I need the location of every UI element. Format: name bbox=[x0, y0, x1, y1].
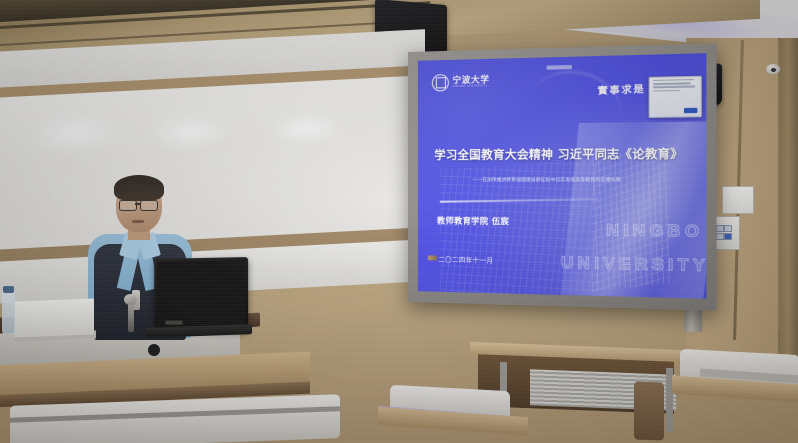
watermark-university: UNIVERSITY bbox=[561, 254, 706, 276]
presentation-toolbar-blip[interactable] bbox=[546, 65, 571, 70]
classroom-photo: 宁波大学 NINGBO UNIVERSITY 實事求是 学习全国教育大会精神 习… bbox=[0, 0, 798, 443]
whiteboard-glare-3 bbox=[268, 109, 344, 147]
laptop-brand-logo bbox=[165, 321, 182, 325]
dialog-confirm-button[interactable] bbox=[684, 108, 697, 114]
dialog-text-line-4 bbox=[653, 90, 679, 92]
glasses-lens-right bbox=[140, 200, 158, 211]
slide-subtitle: ——在加快推进教育强国建设新征程中切实发挥高等教育的支撑作用 bbox=[473, 177, 701, 183]
glasses-bridge bbox=[135, 203, 140, 205]
university-name-cn: 宁波大学 bbox=[453, 75, 490, 84]
whiteboard-surface bbox=[0, 75, 425, 250]
projection-screen: 宁波大学 NINGBO UNIVERSITY 實事求是 学习全国教育大会精神 习… bbox=[408, 43, 717, 310]
podium-laptop[interactable] bbox=[154, 257, 248, 331]
panel-button-active[interactable] bbox=[724, 233, 732, 240]
panel-button-2[interactable] bbox=[716, 225, 724, 232]
university-logo: 宁波大学 NINGBO UNIVERSITY bbox=[431, 73, 489, 91]
whiteboard-glare-1 bbox=[30, 109, 120, 156]
popup-dialog[interactable] bbox=[649, 75, 702, 117]
camera-lens bbox=[771, 68, 776, 72]
water-bottle[interactable] bbox=[2, 290, 15, 334]
wall-seam-2 bbox=[778, 40, 780, 330]
laptop-screen-bezel bbox=[157, 260, 245, 328]
presenter-hair bbox=[114, 175, 164, 201]
panel-button-5[interactable] bbox=[716, 233, 724, 240]
dialog-text-line-3 bbox=[653, 86, 694, 88]
slide-date: 二〇二四年十一月 bbox=[438, 255, 493, 265]
slide-date-marker bbox=[427, 256, 436, 261]
calligraphy-motto: 實事求是 bbox=[598, 81, 646, 97]
whiteboard-glare-2 bbox=[150, 111, 230, 151]
chair-right[interactable] bbox=[634, 381, 664, 440]
wall-sign-paper bbox=[722, 186, 754, 214]
university-name-en: NINGBO UNIVERSITY bbox=[453, 85, 490, 88]
microphone-head bbox=[124, 294, 137, 305]
slide-surface: 宁波大学 NINGBO UNIVERSITY 實事求是 学习全国教育大会精神 习… bbox=[418, 53, 706, 299]
slide-presenter: 教师教育学院 伍宸 bbox=[437, 214, 509, 227]
dialog-text-line-2 bbox=[653, 82, 691, 84]
water-bottle-cap bbox=[3, 286, 14, 293]
paper-stack bbox=[14, 298, 94, 337]
panel-button-3[interactable] bbox=[724, 225, 732, 232]
dialog-text-line-1 bbox=[653, 79, 694, 82]
glasses-lens-left bbox=[119, 200, 137, 211]
door-edge[interactable] bbox=[778, 38, 798, 368]
slide-title: 学习全国教育大会精神 习近平同志《论教育》 bbox=[434, 145, 694, 163]
university-seal-icon bbox=[431, 74, 448, 91]
presenter-mouth bbox=[132, 220, 144, 223]
watermark-ningbo: NINGBO bbox=[606, 222, 703, 242]
